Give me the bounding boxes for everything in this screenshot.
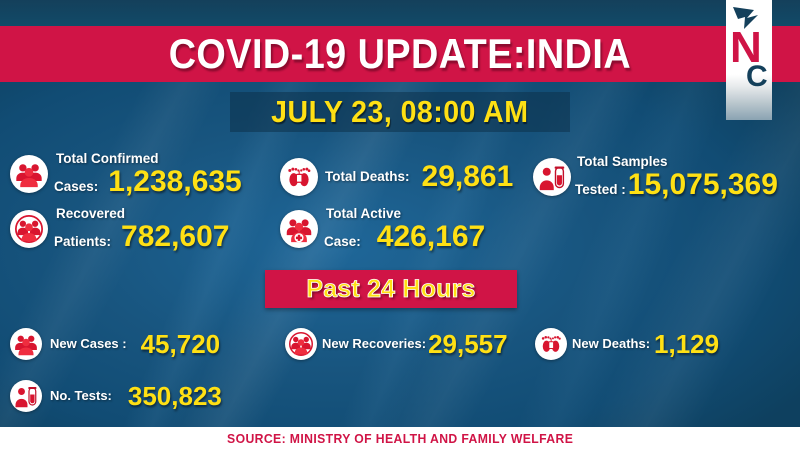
stat-label-line2: Case: [324,235,361,250]
stat-label-new-recoveries: New Recoveries: [322,337,426,351]
stat-value-total-deaths: 29,861 [422,162,514,192]
covid-infographic: COVID-19 UPDATE:INDIA JULY 23, 08:00 AM … [0,0,800,450]
person-test-tube-icon [10,380,42,412]
stat-total-confirmed-cases: Total Confirmed Cases: 1,238,635 [10,152,242,197]
morgue-feet-tag-icon [535,328,567,360]
past-24-hours-banner: Past 24 Hours [265,270,517,308]
footer-source-bar: SOURCE: MINISTRY OF HEALTH AND FAMILY WE… [0,427,800,450]
stat-label-line1: Recovered [54,207,125,222]
page-title: COVID-19 UPDATE:INDIA [169,30,631,78]
stat-new-cases: New Cases : 45,720 [10,328,220,360]
stat-value-new-deaths: 1,129 [654,331,719,357]
logo-letter-c: C [746,62,768,92]
stat-no-tests: No. Tests: 350,823 [10,380,222,412]
stat-label-line2: Cases: [54,180,98,195]
stat-total-deaths: Total Deaths: 29,861 [280,158,513,196]
stat-recovered-patients: Recovered Patients: 782,607 [10,207,229,252]
morgue-feet-tag-icon [280,158,318,196]
stat-new-deaths: New Deaths: 1,129 [535,328,719,360]
stat-total-active-case: Total Active Case: 426,167 [280,207,485,252]
stat-value-total-confirmed-cases: 1,238,635 [108,167,241,197]
people-group-icon [10,328,42,360]
people-medical-cross-icon [280,210,318,248]
stat-label-new-deaths: New Deaths: [572,337,650,351]
stat-value-no-tests: 350,823 [128,383,222,409]
people-recovered-icon [10,210,48,248]
stat-label-new-cases: New Cases : [50,337,127,351]
title-band: COVID-19 UPDATE:INDIA [0,26,800,82]
date-time-text: JULY 23, 08:00 AM [271,94,528,130]
stat-label-no-tests: No. Tests: [50,389,112,403]
stat-new-recoveries: New Recoveries: 29,557 [285,328,508,360]
people-recovered-icon [285,328,317,360]
stat-value-recovered-patients: 782,607 [121,222,229,252]
stat-value-total-active-case: 426,167 [377,222,485,252]
channel-logo: N C [726,0,772,120]
stat-label-line2: Tested : [575,183,626,198]
footer-source-text: SOURCE: MINISTRY OF HEALTH AND FAMILY WE… [227,431,573,446]
stat-total-samples-tested: Total Samples Tested : 15,075,369 [533,155,778,200]
person-test-tube-icon [533,158,571,196]
date-band: JULY 23, 08:00 AM [230,92,570,132]
stat-label-total-deaths: Total Deaths: [325,170,410,185]
past-24-hours-label: Past 24 Hours [306,275,475,304]
stat-value-new-recoveries: 29,557 [428,331,508,357]
stat-value-total-samples-tested: 15,075,369 [628,170,778,200]
people-group-icon [10,155,48,193]
stat-value-new-cases: 45,720 [141,331,221,357]
stat-label-line2: Patients: [54,235,111,250]
top-strip [0,0,800,26]
